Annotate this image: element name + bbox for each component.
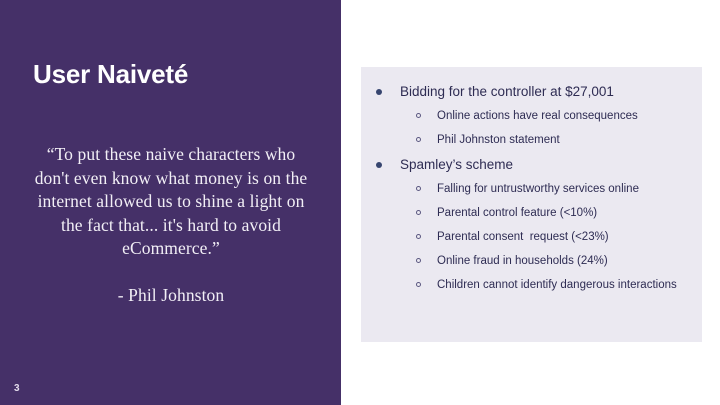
left-purple-panel: User Naiveté “To put these naive charact… xyxy=(0,0,341,405)
list-item: Online fraud in households (24%) xyxy=(361,249,702,273)
list-item: Bidding for the controller at $27,001 xyxy=(361,79,702,104)
hollow-circle-bullet-icon xyxy=(416,113,421,118)
hollow-circle-bullet-icon xyxy=(416,137,421,142)
list-item: Spamley’s scheme xyxy=(361,152,702,177)
filled-disc-bullet-icon xyxy=(376,89,382,95)
list-item-label: Parental consent request (<23%) xyxy=(437,225,702,249)
list-item-label: Online fraud in households (24%) xyxy=(437,249,702,273)
list-item-label: Bidding for the controller at $27,001 xyxy=(400,79,702,104)
list-item-label: Phil Johnston statement xyxy=(437,128,702,152)
quote-attribution: - Phil Johnston xyxy=(30,261,312,308)
content-card: Bidding for the controller at $27,001Onl… xyxy=(361,67,702,342)
list-item-label: Falling for untrustworthy services onlin… xyxy=(437,177,702,201)
page-number: 3 xyxy=(14,383,20,395)
hollow-circle-bullet-icon xyxy=(416,186,421,191)
list-item: Falling for untrustworthy services onlin… xyxy=(361,177,702,201)
list-item-label: Children cannot identify dangerous inter… xyxy=(437,273,702,297)
list-item: Phil Johnston statement xyxy=(361,128,702,152)
quote-text: “To put these naive characters who don't… xyxy=(30,143,312,261)
hollow-circle-bullet-icon xyxy=(416,258,421,263)
list-item: Parental consent request (<23%) xyxy=(361,225,702,249)
bullet-list: Bidding for the controller at $27,001Onl… xyxy=(361,79,702,297)
list-item-label: Spamley’s scheme xyxy=(400,152,702,177)
list-item: Parental control feature (<10%) xyxy=(361,201,702,225)
list-item-label: Online actions have real consequences xyxy=(437,104,702,128)
hollow-circle-bullet-icon xyxy=(416,282,421,287)
list-item: Online actions have real consequences xyxy=(361,104,702,128)
list-item: Children cannot identify dangerous inter… xyxy=(361,273,702,297)
hollow-circle-bullet-icon xyxy=(416,210,421,215)
hollow-circle-bullet-icon xyxy=(416,234,421,239)
list-item-label: Parental control feature (<10%) xyxy=(437,201,702,225)
page-title: User Naiveté xyxy=(33,58,323,90)
presentation-slide: User Naiveté “To put these naive charact… xyxy=(0,0,720,405)
filled-disc-bullet-icon xyxy=(376,162,382,168)
quote-block: “To put these naive characters who don't… xyxy=(30,143,312,308)
